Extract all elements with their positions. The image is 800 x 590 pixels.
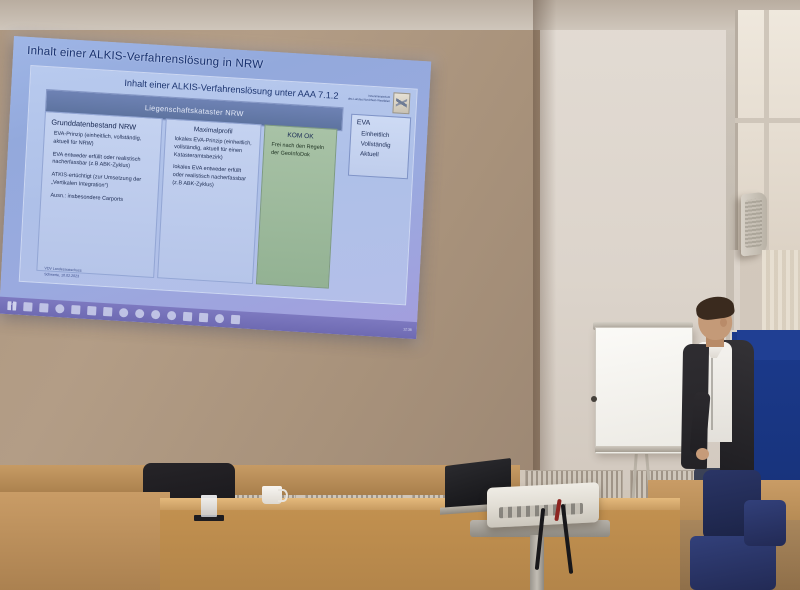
eva-legend-box: EVA Einheitlich Vollständig Aktuell	[348, 114, 411, 180]
ministry-text: Innenministerium des Landes Nordrhein-We…	[324, 88, 390, 103]
nrw-coat-of-arms-icon	[392, 92, 410, 114]
slide-footer: VDV Landesausschuss Schwerte, 10.02.2023	[44, 267, 82, 280]
column-bullet: EVA entweder erfüllt oder realistisch na…	[52, 151, 154, 173]
presenter-ear	[720, 318, 727, 327]
presenter-window[interactable]: Inhalt einer ALKIS-Verfahrenslösung in N…	[0, 36, 431, 339]
firefox-icon[interactable]	[151, 310, 160, 320]
column-title: Maximalprofil	[172, 125, 254, 137]
column-maximalprofil: Maximalprofil lokales EVA-Prinzip (einhe…	[157, 118, 261, 284]
column-bullet: ATKIS-ertüchtigt (zur Umsetzung der „Ver…	[51, 172, 153, 194]
powerpoint-icon[interactable]	[87, 306, 96, 316]
slide-canvas[interactable]: Inhalt einer ALKIS-Verfahrenslösung unte…	[19, 65, 418, 305]
presenter-hand	[696, 448, 709, 460]
teams-icon[interactable]	[167, 311, 176, 321]
eva-title: EVA	[357, 119, 405, 129]
ceiling	[0, 0, 800, 30]
left-table	[0, 492, 170, 590]
front-table	[160, 498, 680, 590]
app2-icon[interactable]	[231, 315, 240, 325]
outlook-icon[interactable]	[71, 305, 80, 315]
windows-start-icon[interactable]	[7, 301, 16, 311]
column-bullet: lokales EVA-Prinzip (einheitlich, vollst…	[174, 136, 254, 164]
file-explorer-icon[interactable]	[39, 303, 48, 313]
drinking-glass	[201, 495, 217, 517]
column-bullet: lokales EVA entweder erfüllt oder realis…	[172, 164, 252, 192]
column-bullet: EVA-Prinzip (einheitlich, vollständig, a…	[53, 131, 155, 153]
column-bullet: Frei nach den Regeln der GeoInfoDok	[271, 142, 330, 161]
chair-blue-right	[744, 500, 786, 546]
kataster-band-label: Liegenschaftskataster NRW	[145, 103, 244, 118]
excel-icon[interactable]	[199, 313, 208, 323]
media-icon[interactable]	[215, 314, 224, 324]
wall-corner-shadow	[533, 0, 559, 470]
eva-item: Vollständig	[360, 140, 403, 150]
wall-speaker	[741, 191, 767, 256]
back-table	[0, 465, 520, 495]
projection-screen[interactable]: Inhalt einer ALKIS-Verfahrenslösung in N…	[0, 36, 431, 339]
app-icon[interactable]	[183, 312, 192, 322]
conference-room-photo: Inhalt einer ALKIS-Verfahrenslösung in N…	[0, 0, 800, 590]
taskbar-clock[interactable]: 12:38	[403, 328, 412, 333]
front-table-edge	[160, 498, 680, 510]
edge-legacy-icon[interactable]	[119, 308, 128, 318]
eva-item: Einheitlich	[361, 130, 404, 140]
edge-icon[interactable]	[135, 309, 144, 319]
column-title: KOM OK	[271, 131, 330, 142]
column-bullet: Ausn.: insbesondere Carports	[50, 192, 151, 206]
eva-item: Aktuell	[360, 150, 403, 160]
column-grunddatenbestand: Grunddatenbestand NRW EVA-Prinzip (einhe…	[36, 111, 162, 278]
column-kom-ok: KOM OK Frei nach den Regeln der GeoInfoD…	[256, 124, 338, 288]
slide-columns: Grunddatenbestand NRW EVA-Prinzip (einhe…	[36, 111, 340, 289]
coffee-mug	[262, 486, 282, 504]
calculator-icon[interactable]	[103, 307, 112, 317]
task-view-icon[interactable]	[23, 302, 32, 312]
flipchart-knob-left[interactable]	[591, 396, 597, 402]
settings-icon[interactable]	[55, 304, 64, 314]
